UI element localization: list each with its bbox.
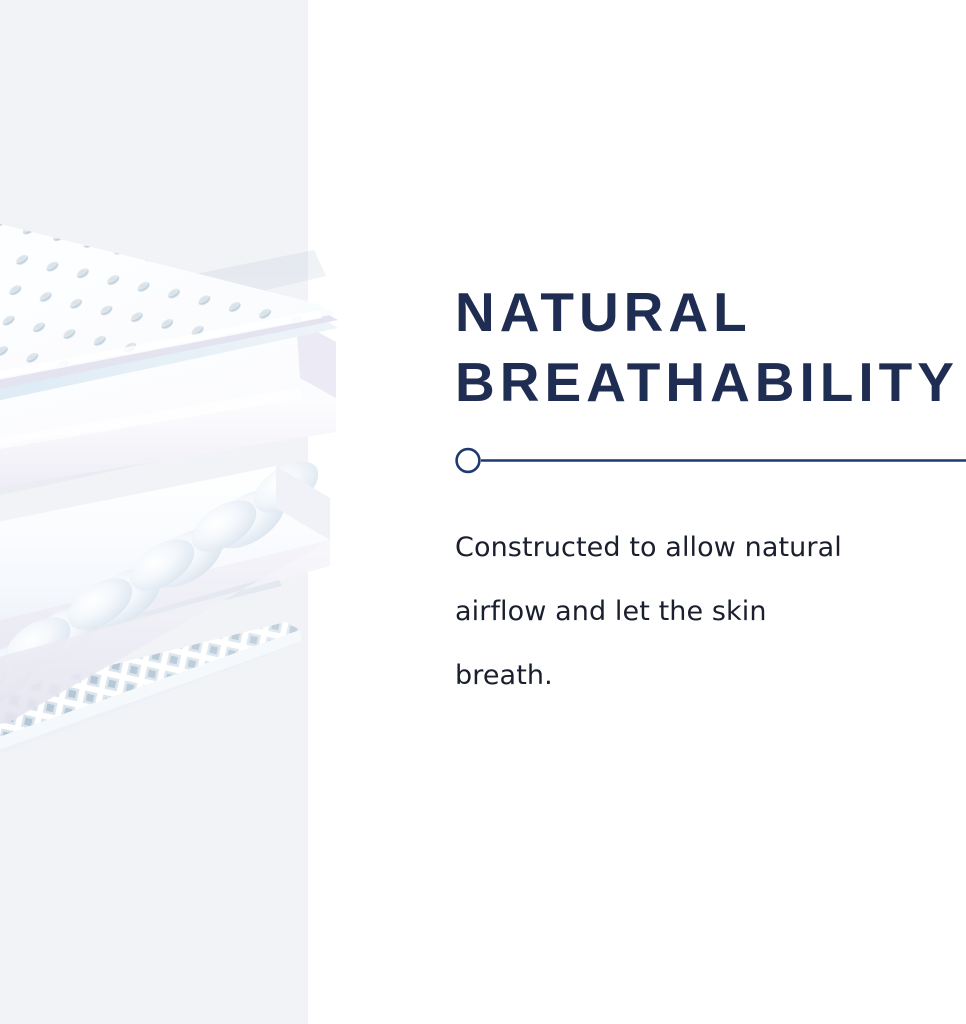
description-line-1: Constructed to allow natural [455,516,955,580]
product-feature-slide: NATURAL BREATHABILITY Constructed to all… [0,0,966,1024]
circle-marker-icon [457,449,480,472]
feature-description: Constructed to allow natural airflow and… [455,516,955,708]
graphic-panel-background [0,0,308,1024]
page-title: NATURAL BREATHABILITY [455,277,966,417]
section-divider [372,447,966,474]
headline-line-2: BREATHABILITY [455,347,966,417]
description-line-3: breath. [455,644,955,708]
feature-text-column: NATURAL BREATHABILITY Constructed to all… [455,0,966,1024]
description-line-2: airflow and let the skin [455,580,955,644]
headline-line-1: NATURAL [455,277,966,347]
